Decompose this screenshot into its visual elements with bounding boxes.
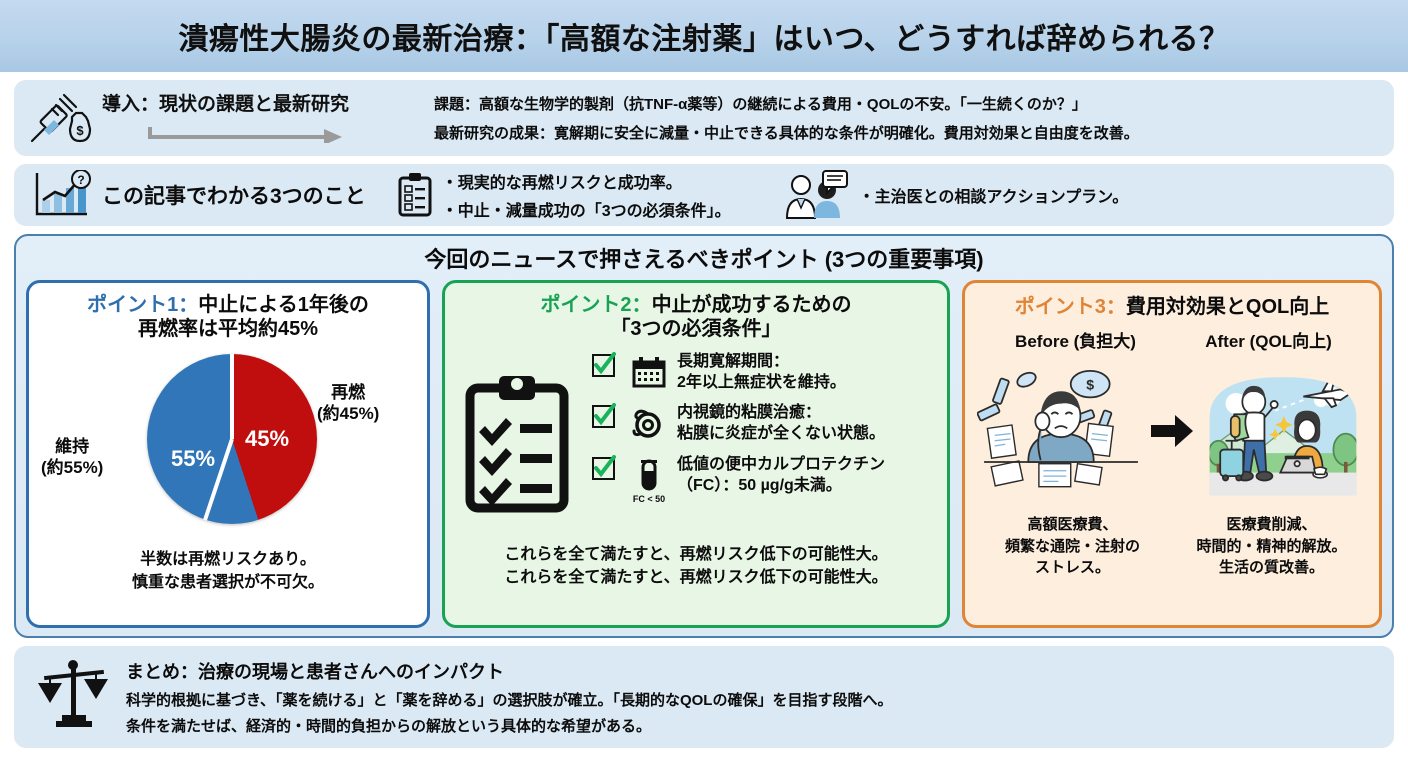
intro-line-2: 最新研究の成果：寛解期に安全に減量・中止できる具体的な条件が明確化。費用対効果と… [434, 122, 1384, 143]
pie-divider [147, 354, 317, 524]
checkbox-checked-icon [587, 352, 621, 378]
point-2-title-line1: 中止が成功するための [652, 294, 852, 316]
point-2-foot-line1: これらを全て満たすと、再燃リスク低下の可能性大。 [457, 544, 935, 567]
clipboard-icon [388, 172, 442, 218]
before-footer: 高額医療費、 頻繁な通院・注射の ストレス。 [973, 514, 1172, 578]
point-1-foot-line2: 慎重な患者選択が不可欠。 [29, 571, 427, 594]
point-1-title-line2: 再燃率は平均約45% [138, 318, 318, 340]
point-3-compare-heads: Before (負担大) After (QOL向上) [965, 319, 1379, 352]
summary-line-1: 科学的根拠に基づき、「薬を続ける」と「薬を辞める」の選択肢が確立。「長期的なQO… [126, 689, 1382, 710]
svg-text:?: ? [77, 173, 84, 187]
intro-left-block: 導入：現状の課題と最新研究 [98, 87, 428, 149]
fc-threshold-note: FC < 50 [633, 494, 665, 504]
pie-legend-relapse: 再燃 (約45%) [317, 382, 379, 425]
point-2-conditions-list: 長期寛解期間： 2年以上無症状を維持。 [587, 348, 937, 538]
point-3-card: ポイント3：費用対効果とQOL向上 Before (負担大) After (QO… [962, 280, 1382, 628]
point-2-foot-line2: これらを全て満たすと、再燃リスク低下の可能性大。 [457, 567, 935, 590]
pie-legend-maintain: 維持 (約55%) [41, 436, 103, 479]
pie-legend-relapse-value: (約45%) [317, 403, 379, 424]
intro-section: $ 導入：現状の課題と最新研究 課題：高額な生物学的製剤（抗TNF-α薬等）の継… [14, 80, 1394, 156]
point-1-title: ポイント1：中止による1年後の 再燃率は平均約45% [29, 283, 427, 342]
condition-line1: 内視鏡的粘膜治癒： [677, 403, 885, 424]
test-tube-icon: FC < 50 [629, 455, 669, 504]
doctor-patient-icon [771, 170, 859, 220]
point-2-title: ポイント2：中止が成功するための 「3つの必須条件」 [445, 283, 947, 342]
intro-right-block: 課題：高額な生物学的製剤（抗TNF-α薬等）の継続による費用・QOLの不安。「一… [428, 93, 1384, 143]
after-footer: 医療費削減、 時間的・精神的解放。 生活の質改善。 [1172, 514, 1371, 578]
condition-text: 長期寛解期間： 2年以上無症状を維持。 [677, 352, 846, 394]
relapse-pie-chart: 45% 55% 再燃 (約45%) 維持 (約55%) [29, 348, 427, 538]
point-1-foot-line1: 半数は再燃リスクあり。 [29, 548, 427, 571]
point-1-footer: 半数は再燃リスクあり。 慎重な患者選択が不可欠。 [29, 548, 427, 594]
point-1-card: ポイント1：中止による1年後の 再燃率は平均約45% 45% 55% 再燃 (約… [26, 280, 430, 628]
condition-item: FC < 50 低値の便中カルプロテクチン （FC）：50 µg/g未満。 [587, 455, 937, 504]
three-things-bullet-3: ・主治医との相談アクションプラン。 [859, 183, 1129, 207]
checkbox-checked-icon [587, 455, 621, 481]
before-foot-line3: ストレス。 [973, 557, 1172, 578]
summary-text-block: まとめ：治療の現場と患者さんへのインパクト 科学的根拠に基づき、「薬を続ける」と… [122, 658, 1382, 736]
bar-chart-question-icon: ? [24, 170, 102, 220]
syringe-money-icon: $ [24, 87, 98, 149]
condition-line2: 2年以上無症状を維持。 [677, 373, 846, 394]
points-cards-row: ポイント1：中止による1年後の 再燃率は平均約45% 45% 55% 再燃 (約… [26, 280, 1382, 628]
condition-item: 長期寛解期間： 2年以上無症状を維持。 [587, 352, 937, 394]
summary-section: まとめ：治療の現場と患者さんへのインパクト 科学的根拠に基づき、「薬を続ける」と… [14, 646, 1394, 748]
condition-line2: 粘膜に炎症が全くない状態。 [677, 424, 885, 445]
condition-text: 内視鏡的粘膜治癒： 粘膜に炎症が全くない状態。 [677, 403, 885, 445]
condition-item: 内視鏡的粘膜治癒： 粘膜に炎症が全くない状態。 [587, 403, 937, 445]
point-3-images: $ [965, 352, 1379, 506]
point-3-title-text: 費用対効果とQOL向上 [1126, 296, 1329, 318]
three-things-bullets: ・現実的な再燃リスクと成功率。 ・中止・減量成功の「3つの必須条件」。 [442, 169, 771, 221]
after-foot-line2: 時間的・精神的解放。 [1172, 536, 1371, 557]
after-foot-line3: 生活の質改善。 [1172, 557, 1371, 578]
page-title: 潰瘍性大腸炎の最新治療：「高額な注射薬」はいつ、どうすれば辞められる？ [178, 14, 1229, 58]
condition-line2: （FC）：50 µg/g未満。 [677, 476, 885, 497]
balance-scale-icon [26, 655, 122, 739]
after-heading: After (QOL向上) [1172, 327, 1365, 352]
point-2-label: ポイント2： [540, 294, 651, 316]
point-3-label: ポイント3： [1015, 296, 1126, 318]
calendar-icon [629, 352, 669, 388]
intro-line-1: 課題：高額な生物学的製剤（抗TNF-α薬等）の継続による費用・QOLの不安。「一… [434, 93, 1384, 114]
pie-legend-relapse-name: 再燃 [317, 382, 379, 403]
before-foot-line2: 頻繁な通院・注射の [973, 536, 1172, 557]
key-points-header: 今回のニュースで押さえるべきポイント (3つの重要事項) [26, 244, 1382, 280]
condition-text: 低値の便中カルプロテクチン （FC）：50 µg/g未満。 [677, 455, 885, 497]
three-things-heading: この記事でわかる3つのこと [102, 180, 388, 210]
three-things-bullet-2: ・中止・減量成功の「3つの必須条件」。 [442, 197, 731, 221]
point-2-title-line2: 「3つの必須条件」 [610, 318, 781, 340]
point-1-label: ポイント1： [87, 294, 198, 316]
pie-label-relapse: 45% [245, 426, 289, 452]
summary-line-2: 条件を満たせば、経済的・時間的負担からの解放という具体的な希望がある。 [126, 715, 1382, 736]
condition-line1: 長期寛解期間： [677, 352, 846, 373]
three-things-section: ? この記事でわかる3つのこと ・現実的な再燃リスクと成功率。 ・中止・減量成功… [14, 164, 1394, 226]
checkbox-checked-icon [587, 403, 621, 429]
intro-heading: 導入：現状の課題と最新研究 [102, 89, 349, 116]
stressed-patient-illustration: $ [977, 356, 1145, 506]
endoscope-icon [629, 403, 669, 439]
after-foot-line1: 医療費削減、 [1172, 514, 1371, 535]
point-3-title: ポイント3：費用対効果とQOL向上 [965, 283, 1379, 319]
three-things-bullet-1: ・現実的な再燃リスクと成功率。 [442, 169, 731, 193]
point-2-footer: これらを全て満たすと、再燃リスク低下の可能性大。 これらを全て満たすと、再燃リス… [445, 538, 947, 589]
condition-line1: 低値の便中カルプロテクチン [677, 455, 885, 476]
summary-heading: まとめ：治療の現場と患者さんへのインパクト [126, 658, 1382, 684]
point-3-footers: 高額医療費、 頻繁な通院・注射の ストレス。 医療費削減、 時間的・精神的解放。… [965, 506, 1379, 578]
pie-label-maintain: 55% [171, 446, 215, 472]
intro-arrow-icon [146, 123, 346, 148]
point-2-card: ポイント2：中止が成功するための 「3つの必須条件」 [442, 280, 950, 628]
travel-freedom-illustration [1199, 356, 1367, 506]
page-title-bar: 潰瘍性大腸炎の最新治療：「高額な注射薬」はいつ、どうすれば辞められる？ [0, 0, 1408, 72]
svg-text:$: $ [76, 123, 84, 138]
right-arrow-icon [1149, 413, 1195, 449]
pie-legend-maintain-name: 維持 [41, 436, 103, 457]
key-points-panel: 今回のニュースで押さえるべきポイント (3つの重要事項) ポイント1：中止による… [14, 234, 1394, 638]
point-1-title-line1: 中止による1年後の [198, 294, 369, 316]
pie-legend-maintain-value: (約55%) [41, 457, 103, 478]
point-2-body: 長期寛解期間： 2年以上無症状を維持。 [445, 342, 947, 538]
svg-text:$: $ [1086, 377, 1094, 393]
before-foot-line1: 高額医療費、 [973, 514, 1172, 535]
before-heading: Before (負担大) [979, 327, 1172, 352]
clipboard-checklist-icon [455, 348, 587, 538]
